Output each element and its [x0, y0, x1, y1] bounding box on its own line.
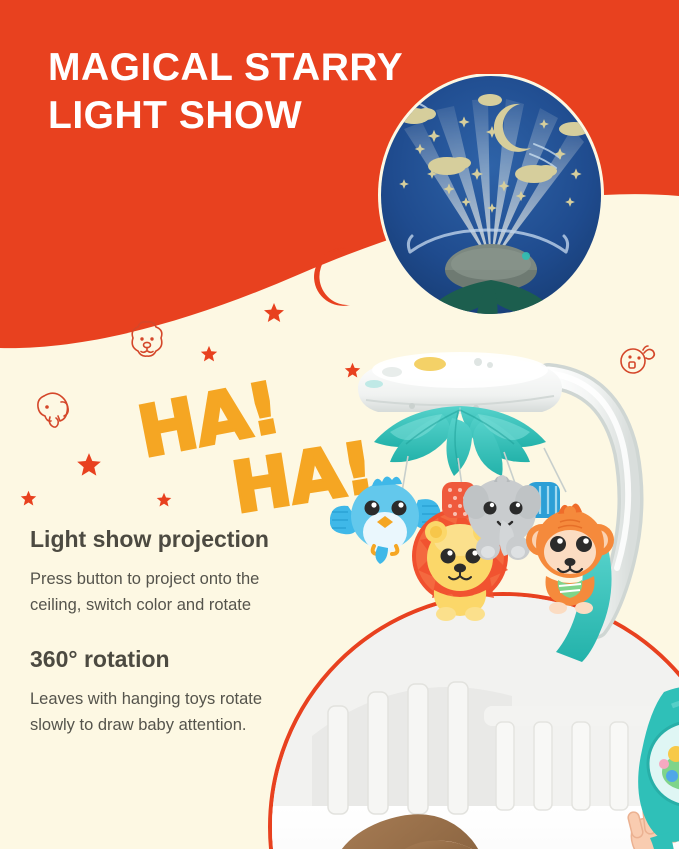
crescent-moon-decoration — [310, 246, 356, 308]
feature-item: Light show projection Press button to pr… — [30, 524, 330, 618]
product-feature-infographic: MAGICAL STARRY LIGHT SHOW — [0, 0, 679, 849]
feature-heading: Light show projection — [30, 524, 330, 554]
star-decoration — [20, 490, 37, 507]
star-decoration — [200, 345, 218, 363]
feature-description: Press button to project onto the ceiling… — [30, 566, 306, 618]
banner-title: MAGICAL STARRY LIGHT SHOW — [48, 44, 448, 140]
star-decoration — [76, 452, 102, 478]
lion-face-doodle — [124, 318, 170, 364]
feature-item: 360° rotation Leaves with hanging toys r… — [30, 644, 330, 738]
star-decoration — [263, 302, 285, 324]
feature-heading: 360° rotation — [30, 644, 330, 674]
feature-list: Light show projection Press button to pr… — [30, 524, 330, 738]
elephant-doodle — [30, 384, 78, 432]
title-line-2: LIGHT SHOW — [48, 92, 448, 140]
title-line-1: MAGICAL STARRY — [48, 46, 403, 89]
crib-mobile-product — [330, 340, 679, 670]
feature-description: Leaves with hanging toys rotate slowly t… — [30, 686, 306, 738]
star-decoration — [156, 492, 172, 508]
